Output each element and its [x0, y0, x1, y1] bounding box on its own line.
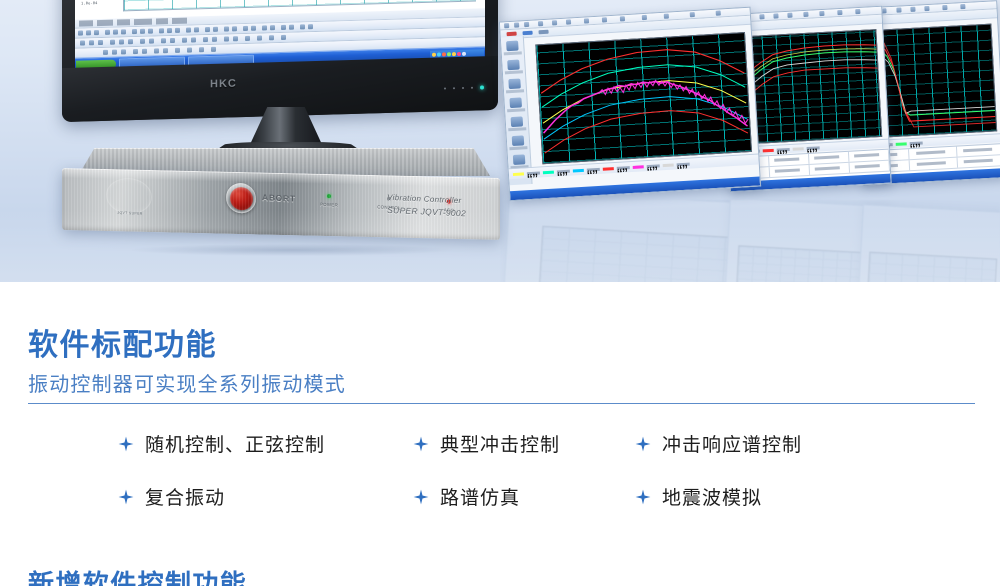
sidebar-tool-icon[interactable] — [512, 135, 525, 146]
led-control: CONTROL — [372, 196, 406, 211]
hero-banner: 0.0010 1.0e-04 — [0, 0, 1000, 282]
osd-button-2[interactable] — [453, 87, 455, 89]
software-screenshot-stack — [500, 0, 1000, 206]
screenshot-random-control[interactable] — [499, 7, 761, 202]
sidebar-tool-icon[interactable] — [508, 78, 521, 89]
abort-button-label: ABORT — [262, 192, 296, 204]
feature-label: 典型冲击控制 — [440, 430, 560, 457]
osd-button-3[interactable] — [462, 87, 464, 89]
shot1-series — [536, 33, 751, 163]
feature-label: 地震波模拟 — [662, 483, 762, 510]
feature-item: 路谱仿真 — [413, 483, 635, 510]
hero-floor-glow — [0, 210, 1000, 282]
product-page: 0.0010 1.0e-04 — [0, 0, 1000, 586]
monitor-brand-logo: HKC — [210, 78, 237, 91]
feature-label: 复合振动 — [145, 483, 225, 510]
features-section: 软件标配功能 振动控制器可实现全系列振动模式 随机控制、正弦控制 典型冲击控制 — [0, 282, 1000, 586]
led-power-icon — [327, 194, 331, 198]
sparkle-star-icon — [635, 489, 651, 505]
osd-button-4[interactable] — [471, 87, 473, 89]
shot1-plot[interactable] — [535, 32, 752, 164]
feature-label: 路谱仿真 — [440, 483, 520, 510]
sidebar-tool-icon[interactable] — [511, 116, 524, 127]
sparkle-star-icon — [118, 436, 134, 452]
shot1-statusbar — [510, 176, 760, 200]
led-control-icon — [387, 197, 391, 201]
feature-list: 随机控制、正弦控制 典型冲击控制 冲击响应谱控制 复合振动 — [118, 430, 918, 510]
feature-item: 冲击响应谱控制 — [635, 430, 918, 457]
osd-button-1[interactable] — [444, 88, 446, 90]
feature-label: 冲击响应谱控制 — [662, 430, 802, 457]
chassis-product-name: Vibration Controller — [387, 192, 466, 207]
led-power-label: POWER — [312, 201, 346, 208]
section-title: 软件标配功能 — [28, 320, 217, 364]
screen-y-tick-2: 1.0e-04 — [81, 1, 98, 5]
abort-button-cap[interactable] — [230, 186, 253, 210]
sidebar-tool-icon[interactable] — [507, 59, 520, 70]
section-subtitle: 振动控制器可实现全系列振动模式 — [28, 368, 346, 397]
feature-item: 随机控制、正弦控制 — [118, 430, 413, 457]
sparkle-star-icon — [413, 489, 429, 505]
feature-item: 地震波模拟 — [635, 483, 918, 510]
led-acq-icon — [447, 200, 451, 204]
shot1-tool-sidebar[interactable] — [501, 36, 533, 185]
feature-item: 复合振动 — [118, 483, 413, 510]
sparkle-star-icon — [118, 489, 134, 505]
section-divider — [28, 403, 975, 404]
sidebar-tool-icon[interactable] — [509, 97, 522, 108]
led-power: POWER — [312, 193, 346, 208]
feature-item: 典型冲击控制 — [413, 430, 635, 457]
power-led-icon — [480, 85, 484, 89]
sparkle-star-icon — [635, 436, 651, 452]
monitor-assembly: 0.0010 1.0e-04 — [62, 0, 498, 156]
sidebar-tool-icon[interactable] — [513, 154, 526, 165]
sidebar-tool-icon[interactable] — [506, 41, 519, 52]
next-section-title: 新增软件控制功能 — [28, 564, 247, 586]
sparkle-star-icon — [413, 436, 429, 452]
feature-label: 随机控制、正弦控制 — [145, 430, 325, 457]
